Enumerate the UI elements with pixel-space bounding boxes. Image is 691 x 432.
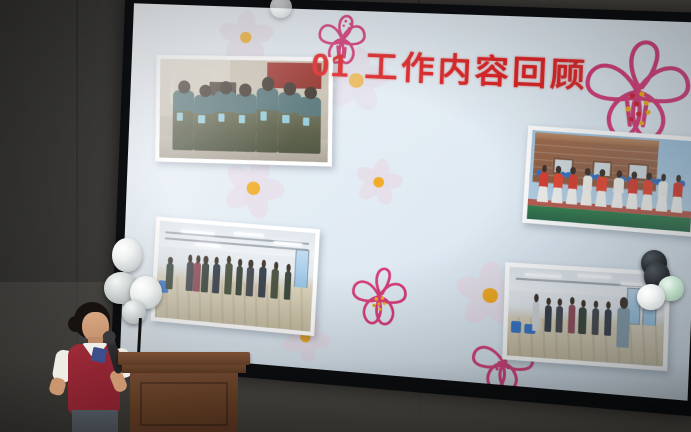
outline-flower-icon [343,261,416,333]
slide-title-number: 01 [311,46,351,84]
soft-flower-icon [222,157,284,220]
balloon [112,238,142,272]
soft-flower-icon [354,158,403,206]
podium [118,352,250,432]
slide-photo-bottom-left [151,216,320,336]
balloon [637,284,665,310]
slide-photo-top-left [155,55,333,167]
presentation-slide: 01工作内容回顾 [120,3,691,400]
auditorium-room: 01工作内容回顾 [0,0,691,432]
slide-photo-right [522,125,691,237]
slide-title-text: 工作内容回顾 [364,48,589,95]
